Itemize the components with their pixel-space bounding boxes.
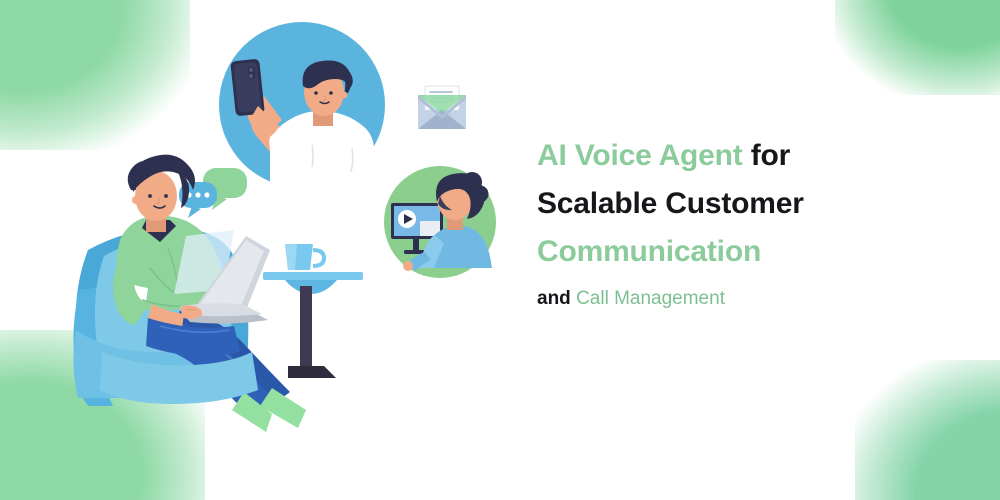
blue-circle-selfie	[219, 22, 385, 190]
coffee-cup-icon	[285, 244, 324, 270]
headline-accent-1: AI Voice Agent	[537, 139, 743, 172]
subheadline-accent: Call Management	[576, 288, 725, 309]
subheadline-dark: and	[537, 288, 571, 309]
envelope-icon	[418, 86, 466, 129]
headline-line-3: Communication	[537, 228, 957, 276]
subheadline: and Call Management	[537, 288, 725, 310]
side-table-cup	[263, 244, 363, 378]
promo-banner: AI Voice Agent for Scalable Customer Com…	[0, 0, 1000, 500]
headline-dark-1: for	[751, 139, 790, 172]
headline-line-2: Scalable Customer	[537, 180, 957, 228]
headline-line-1: AI Voice Agent for	[537, 132, 957, 180]
headline-block: AI Voice Agent for Scalable Customer Com…	[537, 132, 957, 276]
green-circle-videocall	[384, 166, 496, 278]
